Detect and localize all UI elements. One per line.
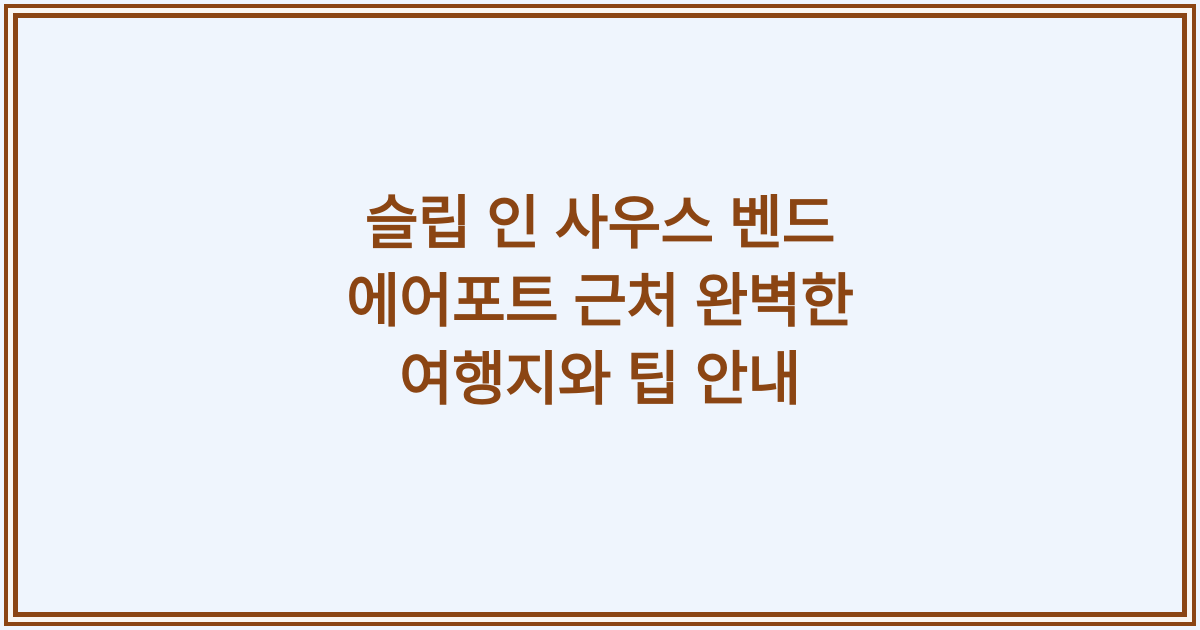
headline-container: 슬립 인 사우스 벤드 에어포트 근처 완벽한 여행지와 팁 안내 (220, 185, 980, 445)
page-title: 슬립 인 사우스 벤드 에어포트 근처 완벽한 여행지와 팁 안내 (220, 185, 980, 419)
og-image-card: 슬립 인 사우스 벤드 에어포트 근처 완벽한 여행지와 팁 안내 (0, 0, 1200, 630)
